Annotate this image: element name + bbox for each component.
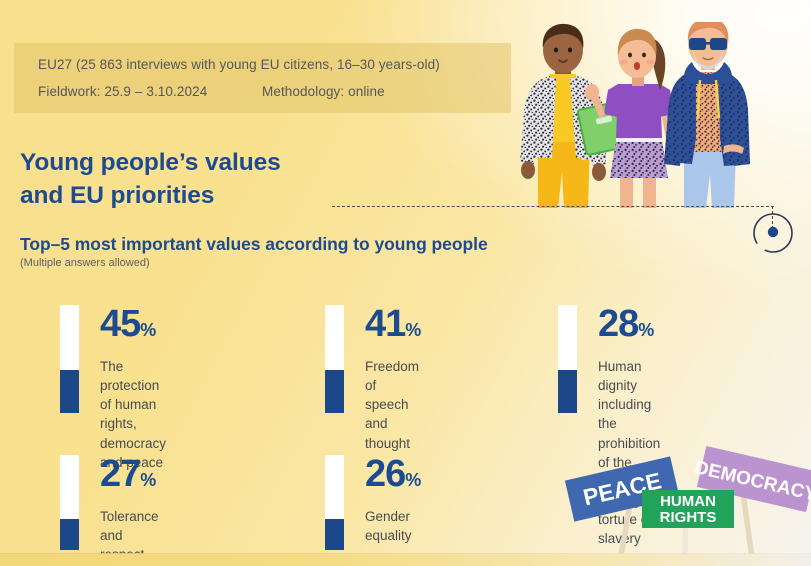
stat-bar-fill-2 [325, 370, 344, 413]
stat-body-5: 26% Gender equality [365, 455, 421, 545]
stat-desc-line: rights, democracy [100, 414, 166, 452]
stat-bar-2 [325, 305, 344, 413]
percent-sign-5: % [405, 470, 421, 490]
stat-bar-fill-3 [558, 370, 577, 413]
stat-bar-1 [60, 305, 79, 413]
stat-value-4: 27% [100, 455, 159, 493]
sign-human-rights-label-2: RIGHTS [660, 509, 717, 526]
stat-body-1: 45% The protection of human rights, demo… [100, 305, 166, 472]
protest-placards-illustration: PEACE DEMOCRACY HUMAN RIGHTS [560, 440, 811, 566]
dashed-connector-horizontal [332, 206, 774, 207]
stat-bar-3 [558, 305, 577, 413]
stat-bar-fill-1 [60, 370, 79, 413]
stat-value-1: 45% [100, 305, 166, 343]
infographic-canvas: EU27 (25 863 interviews with young EU ci… [0, 0, 811, 566]
stat-value-3: 28% [598, 305, 660, 343]
stat-desc-line: Gender equality [365, 507, 421, 545]
three-young-people-illustration [512, 22, 802, 208]
stat-bar-fill-4 [60, 519, 79, 550]
percent-sign-3: % [638, 320, 654, 340]
stat-desc-line: Freedom of speech [365, 357, 421, 414]
percent-sign-4: % [140, 470, 156, 490]
stat-description-2: Freedom of speech and thought [365, 357, 421, 453]
page-title-line1: Young people’s values [20, 146, 490, 179]
percent-sign-2: % [405, 320, 421, 340]
stat-number-1: 45 [100, 303, 140, 345]
stat-desc-line: Human dignity including the [598, 357, 660, 434]
stat-bar-5 [325, 455, 344, 550]
stat-bar-fill-5 [325, 519, 344, 550]
page-title-line2: and EU priorities [20, 179, 490, 212]
sample-description: EU27 (25 863 interviews with young EU ci… [38, 57, 440, 72]
stat-description-5: Gender equality [365, 507, 421, 545]
stat-desc-line: and thought [365, 414, 421, 452]
circle-dot-marker-icon [749, 209, 797, 257]
stat-number-4: 27 [100, 453, 140, 495]
section-subtitle: Top–5 most important values according to… [20, 234, 488, 255]
stat-number-2: 41 [365, 303, 405, 345]
methodology: Methodology: online [262, 84, 385, 99]
bottom-band [0, 554, 811, 566]
stat-desc-line: The protection of human [100, 357, 166, 414]
survey-meta-box: EU27 (25 863 interviews with young EU ci… [14, 43, 511, 113]
section-subnote: (Multiple answers allowed) [20, 257, 150, 269]
stat-bar-4 [60, 455, 79, 550]
stat-value-5: 26% [365, 455, 421, 493]
stat-number-3: 28 [598, 303, 638, 345]
stat-body-4: 27% Tolerance and respect for diversity … [100, 455, 159, 566]
page-title: Young people’s values and EU priorities [20, 146, 490, 213]
sign-human-rights-label-1: HUMAN [660, 493, 716, 510]
percent-sign-1: % [140, 320, 156, 340]
stat-value-2: 41% [365, 305, 421, 343]
stat-body-2: 41% Freedom of speech and thought [365, 305, 421, 453]
fieldwork-dates: Fieldwork: 25.9 – 3.10.2024 [38, 84, 207, 99]
stat-number-5: 26 [365, 453, 405, 495]
